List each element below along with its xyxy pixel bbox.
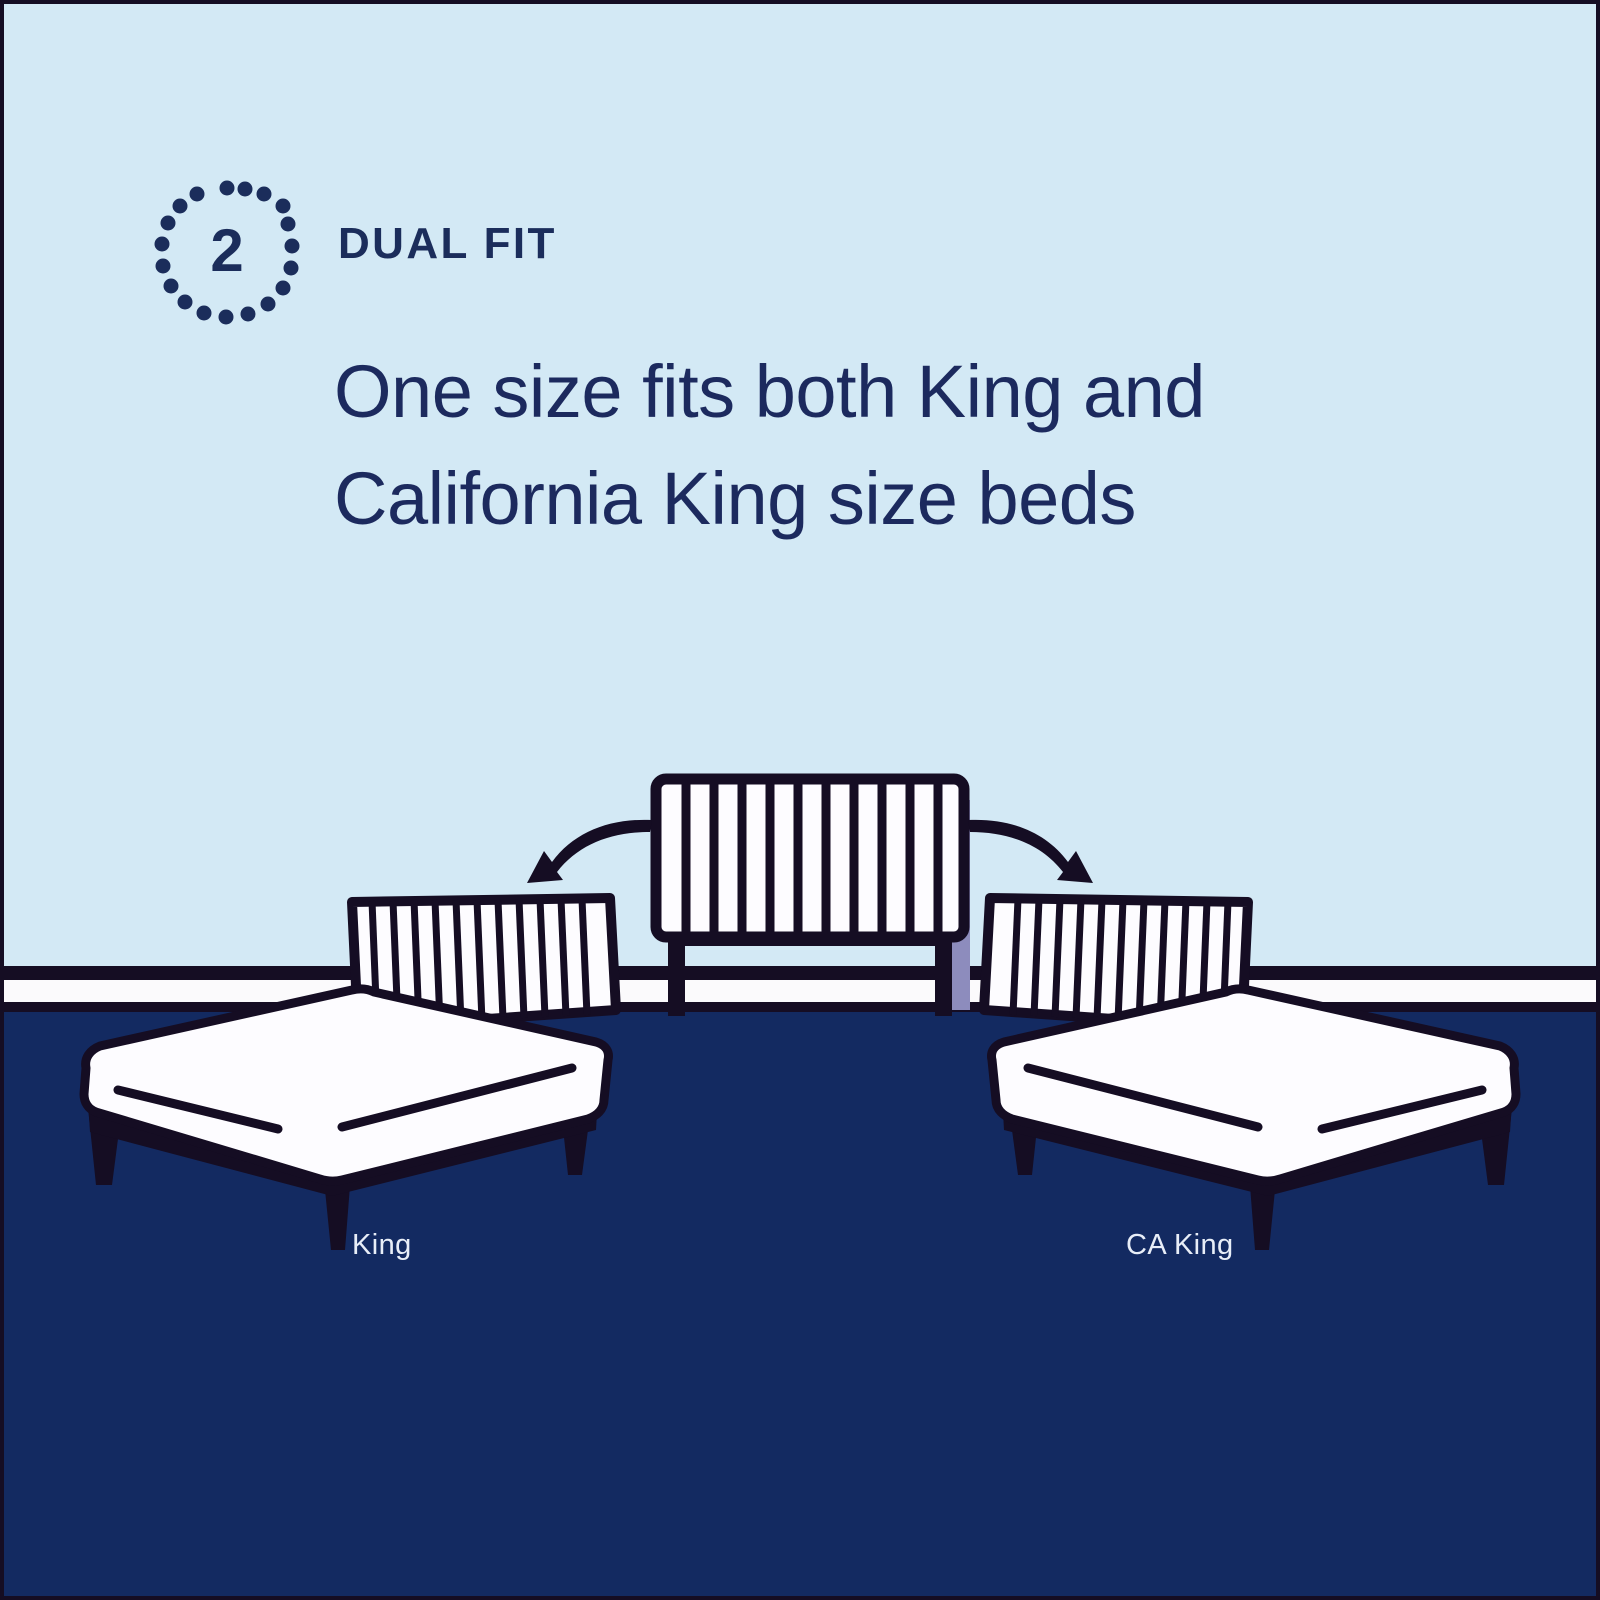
headboard-panel (656, 779, 964, 937)
baseboard-top-line (0, 966, 1600, 980)
step-eyebrow-label: DUAL FIT (338, 222, 557, 266)
baseboard-strip (0, 980, 1600, 1002)
headline-line-2: California King size beds (334, 445, 1434, 552)
bed-caption-ca-king: CA King (1126, 1231, 1234, 1260)
step-number: 2 (162, 186, 292, 316)
bed-caption-king: King (352, 1231, 412, 1260)
headline-line-1: One size fits both King and (334, 338, 1434, 445)
headline: One size fits both King and California K… (334, 338, 1434, 553)
infographic-card: 2 DUAL FIT One size fits both King and C… (0, 0, 1600, 1600)
